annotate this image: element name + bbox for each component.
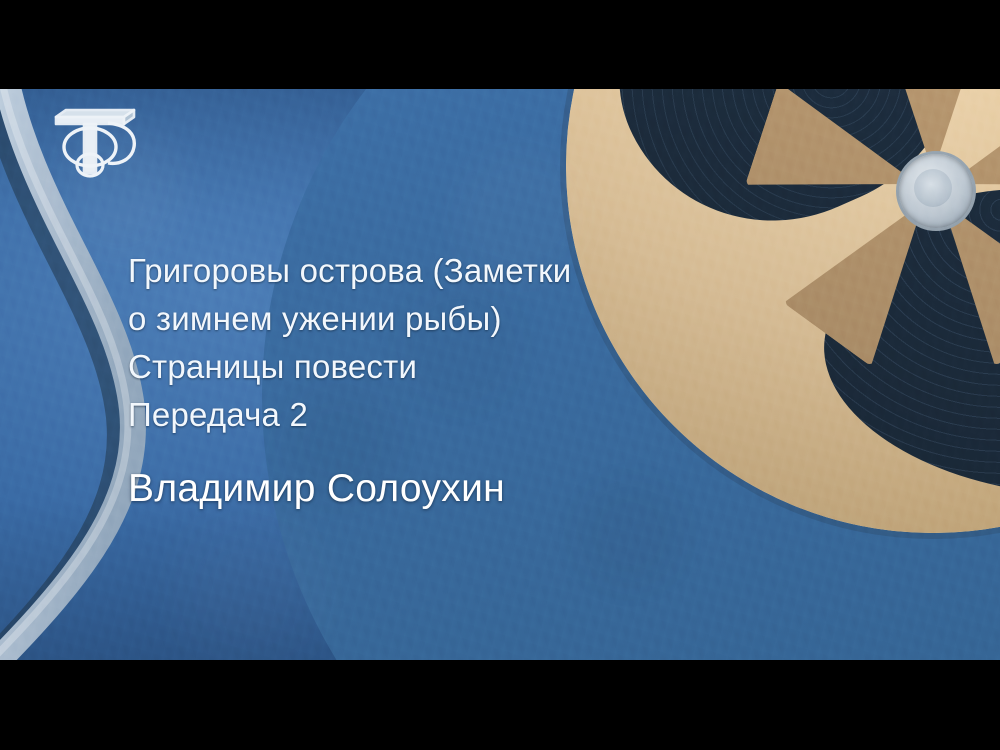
title-line-3: Страницы повести — [128, 343, 748, 391]
gosteleradiofond-logo — [46, 105, 142, 183]
reel-hub-hole — [914, 169, 952, 207]
letterbox-bottom — [0, 660, 1000, 750]
title-line-1: Григоровы острова (Заметки — [128, 247, 748, 295]
slide-text-block: Григоровы острова (Заметки о зимнем ужен… — [128, 247, 748, 513]
title-line-4: Передача 2 — [128, 391, 748, 439]
letterbox-top — [0, 0, 1000, 89]
author-name: Владимир Солоухин — [128, 465, 748, 513]
slide-content-area: Григоровы острова (Заметки о зимнем ужен… — [0, 89, 1000, 660]
video-frame: Григоровы острова (Заметки о зимнем ужен… — [0, 0, 1000, 750]
title-line-2: о зимнем ужении рыбы) — [128, 295, 748, 343]
